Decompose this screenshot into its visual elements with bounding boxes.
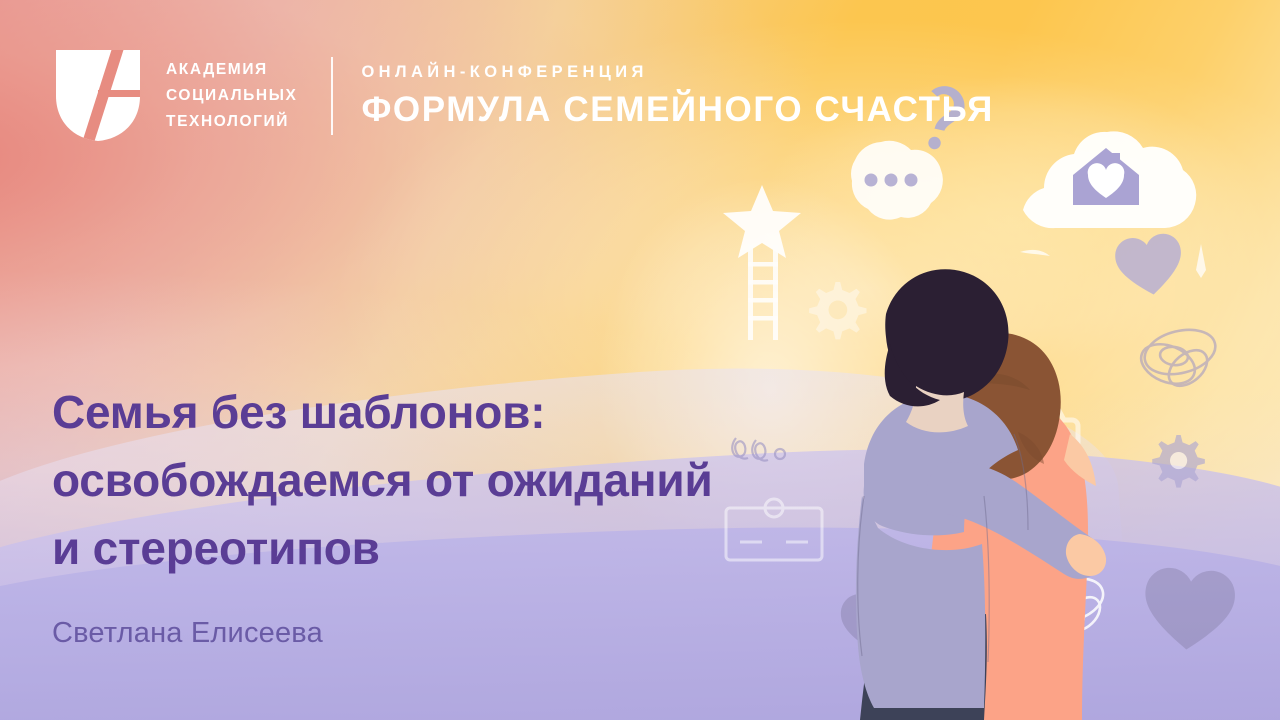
- talk-title: Семья без шаблонов: освобождаемся от ожи…: [52, 378, 842, 582]
- conference-kicker: ОНЛАЙН-КОНФЕРЕНЦИЯ: [361, 63, 993, 82]
- conference-block: ОНЛАЙН-КОНФЕРЕНЦИЯ ФОРМУЛА СЕМЕЙНОГО СЧА…: [361, 63, 993, 129]
- conference-title: ФОРМУЛА СЕМЕЙНОГО СЧАСТЬЯ: [361, 91, 993, 129]
- header-divider: [331, 57, 333, 135]
- brand-name-line-2: СОЦИАЛЬНЫХ: [166, 83, 297, 109]
- talk-title-line-3: и стереотипов: [52, 514, 842, 582]
- talk-title-line-2: освобождаемся от ожиданий: [52, 446, 842, 514]
- brand-name-line-3: ТЕХНОЛОГИЙ: [166, 109, 297, 135]
- brand-name-line-1: АКАДЕМИЯ: [166, 57, 297, 83]
- brand-name: АКАДЕМИЯ СОЦИАЛЬНЫХ ТЕХНОЛОГИЙ: [166, 57, 297, 135]
- presentation-slide: АКАДЕМИЯ СОЦИАЛЬНЫХ ТЕХНОЛОГИЙ ОНЛАЙН-КО…: [0, 0, 1280, 720]
- speaker-name: Светлана Елисеева: [52, 617, 323, 650]
- shield-logo-icon: [52, 48, 144, 143]
- talk-title-line-1: Семья без шаблонов:: [52, 378, 842, 446]
- slide-header: АКАДЕМИЯ СОЦИАЛЬНЫХ ТЕХНОЛОГИЙ ОНЛАЙН-КО…: [52, 48, 994, 143]
